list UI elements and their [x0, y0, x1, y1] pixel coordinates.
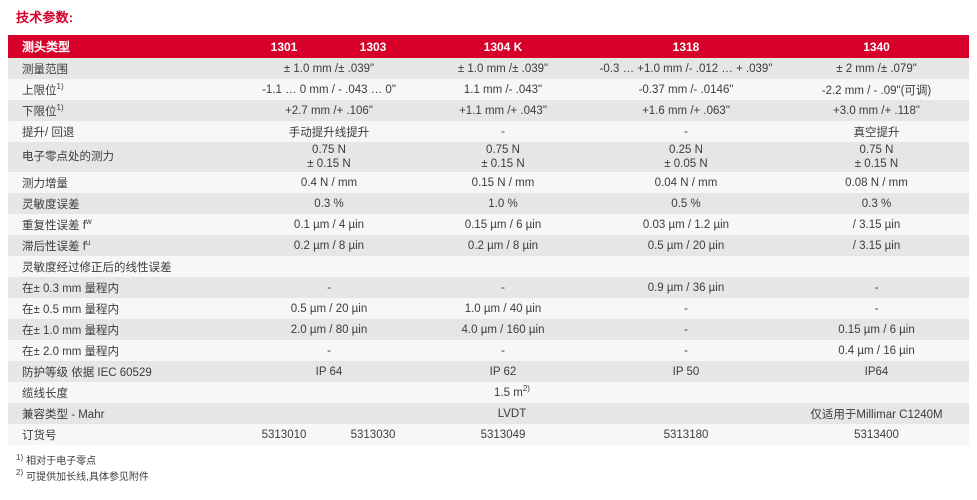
table-row: 测力增量 0.4 N / mm 0.15 N / mm 0.04 N / mm … [8, 172, 969, 193]
footnote-marker: 1) [57, 103, 64, 112]
table-row: 下限位1) +2.7 mm /+ .106" +1.1 mm /+ .043" … [8, 100, 969, 121]
table-row: 防护等级 依据 IEC 60529 IP 64 IP 62 IP 50 IP64 [8, 361, 969, 382]
footnote-2: 2)可提供加长线,具体参见附件 [16, 470, 969, 486]
order-number-1318: 5313180 [588, 424, 784, 445]
table-row: 测量范围 ± 1.0 mm /± .039" ± 1.0 mm /± .039"… [8, 58, 969, 79]
footnote-2-marker: 2) [16, 468, 23, 477]
cell-value: 2.0 µm / 80 µin [240, 319, 418, 340]
cell-value: 0.25 N ± 0.05 N [588, 142, 784, 172]
cell-value: 0.1 µm / 4 µin [240, 214, 418, 235]
row-label-text: 滞后性误差 f [22, 241, 86, 253]
row-label: 灵敏度经过修正后的线性误差 [8, 256, 240, 277]
column-header-1304k: 1304 K [418, 35, 588, 58]
row-label: 防护等级 依据 IEC 60529 [8, 361, 240, 382]
cell-value: 0.04 N / mm [588, 172, 784, 193]
row-label-text: 订货号 [22, 430, 57, 442]
cell-value: - [240, 340, 418, 361]
cell-value: / 3.15 µin [784, 214, 969, 235]
row-label: 兼容类型 - Mahr [8, 403, 240, 424]
row-label: 滞后性误差 fu [8, 235, 240, 256]
cell-value: - [418, 277, 588, 298]
table-row: 在± 1.0 mm 量程内 2.0 µm / 80 µin 4.0 µm / 1… [8, 319, 969, 340]
row-label: 订货号 [8, 424, 240, 445]
row-label: 在± 2.0 mm 量程内 [8, 340, 240, 361]
cell-value: ± 1.0 mm /± .039" [418, 58, 588, 79]
header-row: 测头类型 1301 1303 1304 K 1318 1340 [8, 35, 969, 58]
table-row: 上限位1) -1.1 … 0 mm / - .043 … 0" 1.1 mm /… [8, 79, 969, 100]
cell-value: - [240, 277, 418, 298]
cell-value: - [588, 340, 784, 361]
cell-value: IP64 [784, 361, 969, 382]
table-row-compatibility: 兼容类型 - Mahr LVDT 仅适用于Millimar C1240M [8, 403, 969, 424]
order-number-1304k: 5313049 [418, 424, 588, 445]
spec-sheet-page: 技术参数: 测头类型 1301 1303 1304 K 1318 1340 测量… [0, 0, 977, 500]
footnote-1: 1)相对于电子零点 [16, 454, 969, 470]
row-label-text: 测量范围 [22, 64, 68, 76]
cell-value: -0.37 mm /- .0146" [588, 79, 784, 100]
table-row: 提升/ 回退 手动提升线提升 - - 真空提升 [8, 121, 969, 142]
subscript-w: w [86, 217, 92, 226]
cell-value-lvdt: LVDT [240, 403, 784, 424]
cell-value: 0.75 N ± 0.15 N [418, 142, 588, 172]
subscript-u: u [86, 238, 90, 247]
row-label: 在± 1.0 mm 量程内 [8, 319, 240, 340]
cell-value: +2.7 mm /+ .106" [240, 100, 418, 121]
order-number-1301: 5313010 [240, 424, 328, 445]
footnote-marker: 1) [57, 82, 64, 91]
order-number-1303: 5313030 [328, 424, 418, 445]
cell-value: 0.3 % [240, 193, 418, 214]
cell-value [240, 256, 418, 277]
row-label: 测力增量 [8, 172, 240, 193]
cell-value: - [588, 298, 784, 319]
row-label: 灵敏度误差 [8, 193, 240, 214]
cell-value: 0.03 µm / 1.2 µin [588, 214, 784, 235]
cell-value: 0.4 µm / 16 µin [784, 340, 969, 361]
cell-value [784, 256, 969, 277]
table-row: 在± 0.3 mm 量程内 - - 0.9 µm / 36 µin - [8, 277, 969, 298]
column-header-label: 测头类型 [8, 35, 240, 58]
page-title: 技术参数: [8, 0, 969, 35]
row-label-text: 缆线长度 [22, 388, 68, 400]
cell-value: 真空提升 [784, 121, 969, 142]
table-row-group-heading: 灵敏度经过修正后的线性误差 [8, 256, 969, 277]
column-header-1303: 1303 [328, 35, 418, 58]
cell-value: - [588, 121, 784, 142]
cell-value: 0.2 µm / 8 µin [240, 235, 418, 256]
cell-value: 0.9 µm / 36 µin [588, 277, 784, 298]
footnote-1-text: 相对于电子零点 [26, 456, 96, 467]
row-label-text: 在± 2.0 mm 量程内 [22, 346, 119, 358]
row-label-text: 兼容类型 - Mahr [22, 409, 104, 421]
table-row: 电子零点处的测力 0.75 N ± 0.15 N 0.75 N ± 0.15 N… [8, 142, 969, 172]
order-number-1340: 5313400 [784, 424, 969, 445]
cell-value: 0.3 % [784, 193, 969, 214]
cell-value: +1.1 mm /+ .043" [418, 100, 588, 121]
cell-value-line2: ± 0.15 N [784, 157, 969, 171]
row-label-text: 在± 1.0 mm 量程内 [22, 325, 119, 337]
footnote-2-text: 可提供加长线,具体参见附件 [26, 472, 149, 483]
row-label: 重复性误差 fw [8, 214, 240, 235]
row-label: 上限位1) [8, 79, 240, 100]
row-label: 在± 0.5 mm 量程内 [8, 298, 240, 319]
cell-value: 4.0 µm / 160 µin [418, 319, 588, 340]
table-row-order-numbers: 订货号 5313010 5313030 5313049 5313180 5313… [8, 424, 969, 445]
cell-value: -2.2 mm / - .09"(可调) [784, 79, 969, 100]
cell-value: 0.08 N / mm [784, 172, 969, 193]
cell-value: 0.5 µm / 20 µin [588, 235, 784, 256]
cell-value: 手动提升线提升 [240, 121, 418, 142]
cell-value: -1.1 … 0 mm / - .043 … 0" [240, 79, 418, 100]
footnote-1-marker: 1) [16, 453, 23, 462]
cell-value: IP 64 [240, 361, 418, 382]
table-row: 重复性误差 fw 0.1 µm / 4 µin 0.15 µm / 6 µin … [8, 214, 969, 235]
cell-value: / 3.15 µin [784, 235, 969, 256]
cell-value: 0.15 µm / 6 µin [418, 214, 588, 235]
cell-value-line2: ± 0.05 N [588, 157, 784, 171]
cell-value: -0.3 … +1.0 mm /- .012 … + .039" [588, 58, 784, 79]
cell-value: 0.15 N / mm [418, 172, 588, 193]
cell-value: ± 2 mm /± .079" [784, 58, 969, 79]
table-header: 测头类型 1301 1303 1304 K 1318 1340 [8, 35, 969, 58]
column-header-1301: 1301 [240, 35, 328, 58]
footnotes: 1)相对于电子零点 2)可提供加长线,具体参见附件 [8, 445, 969, 485]
row-label-text: 重复性误差 f [22, 220, 86, 232]
footnote-marker: 2) [523, 384, 530, 393]
technical-specifications-table: 测头类型 1301 1303 1304 K 1318 1340 测量范围 ± 1… [8, 35, 969, 445]
cell-value: - [588, 319, 784, 340]
cell-value [588, 256, 784, 277]
cell-value: - [418, 121, 588, 142]
row-label: 在± 0.3 mm 量程内 [8, 277, 240, 298]
cell-value-millimar: 仅适用于Millimar C1240M [784, 403, 969, 424]
cell-value: IP 50 [588, 361, 784, 382]
cell-value: 0.5 % [588, 193, 784, 214]
cell-value [784, 382, 969, 403]
row-label: 下限位1) [8, 100, 240, 121]
row-label-text: 上限位 [22, 85, 57, 97]
row-label-text: 提升/ 回退 [22, 127, 74, 139]
cell-value: IP 62 [418, 361, 588, 382]
table-row: 灵敏度误差 0.3 % 1.0 % 0.5 % 0.3 % [8, 193, 969, 214]
row-label-text: 灵敏度经过修正后的线性误差 [22, 262, 172, 274]
row-label-text: 测力增量 [22, 178, 68, 190]
row-label-text: 在± 0.3 mm 量程内 [22, 283, 119, 295]
table-row: 在± 0.5 mm 量程内 0.5 µm / 20 µin 1.0 µm / 4… [8, 298, 969, 319]
cell-value: 0.75 N ± 0.15 N [784, 142, 969, 172]
row-label-text: 灵敏度误差 [22, 199, 80, 211]
cable-length-value: 1.5 m [494, 387, 523, 399]
cell-value: +1.6 mm /+ .063" [588, 100, 784, 121]
cell-value: 1.1 mm /- .043" [418, 79, 588, 100]
row-label-text: 防护等级 依据 IEC 60529 [22, 367, 152, 379]
table-body: 测量范围 ± 1.0 mm /± .039" ± 1.0 mm /± .039"… [8, 58, 969, 445]
column-header-1318: 1318 [588, 35, 784, 58]
cell-value [418, 256, 588, 277]
cell-value-line2: ± 0.15 N [240, 157, 418, 171]
cell-value-line1: 0.75 N [240, 143, 418, 157]
column-header-1340: 1340 [784, 35, 969, 58]
cell-value: - [784, 277, 969, 298]
row-label: 提升/ 回退 [8, 121, 240, 142]
cell-value: 0.15 µm / 6 µin [784, 319, 969, 340]
row-label-text: 电子零点处的测力 [22, 151, 114, 163]
cell-value-line1: 0.75 N [418, 143, 588, 157]
cell-value: 0.5 µm / 20 µin [240, 298, 418, 319]
row-label-text: 下限位 [22, 106, 57, 118]
cell-value: - [784, 298, 969, 319]
cell-value: 0.2 µm / 8 µin [418, 235, 588, 256]
cell-value: +3.0 mm /+ .118" [784, 100, 969, 121]
row-label: 缆线长度 [8, 382, 240, 403]
cell-value: 1.0 µm / 40 µin [418, 298, 588, 319]
cell-value: 1.0 % [418, 193, 588, 214]
cell-value: - [418, 340, 588, 361]
cell-value: 0.75 N ± 0.15 N [240, 142, 418, 172]
cell-value: ± 1.0 mm /± .039" [240, 58, 418, 79]
row-label-text: 在± 0.5 mm 量程内 [22, 304, 119, 316]
row-label: 电子零点处的测力 [8, 142, 240, 172]
cell-value-line2: ± 0.15 N [418, 157, 588, 171]
row-label: 测量范围 [8, 58, 240, 79]
cell-value-line1: 0.75 N [784, 143, 969, 157]
table-row: 在± 2.0 mm 量程内 - - - 0.4 µm / 16 µin [8, 340, 969, 361]
cell-value-line1: 0.25 N [588, 143, 784, 157]
cell-value-cable-length: 1.5 m2) [240, 382, 784, 403]
table-row-cable-length: 缆线长度 1.5 m2) [8, 382, 969, 403]
cell-value: 0.4 N / mm [240, 172, 418, 193]
table-row: 滞后性误差 fu 0.2 µm / 8 µin 0.2 µm / 8 µin 0… [8, 235, 969, 256]
